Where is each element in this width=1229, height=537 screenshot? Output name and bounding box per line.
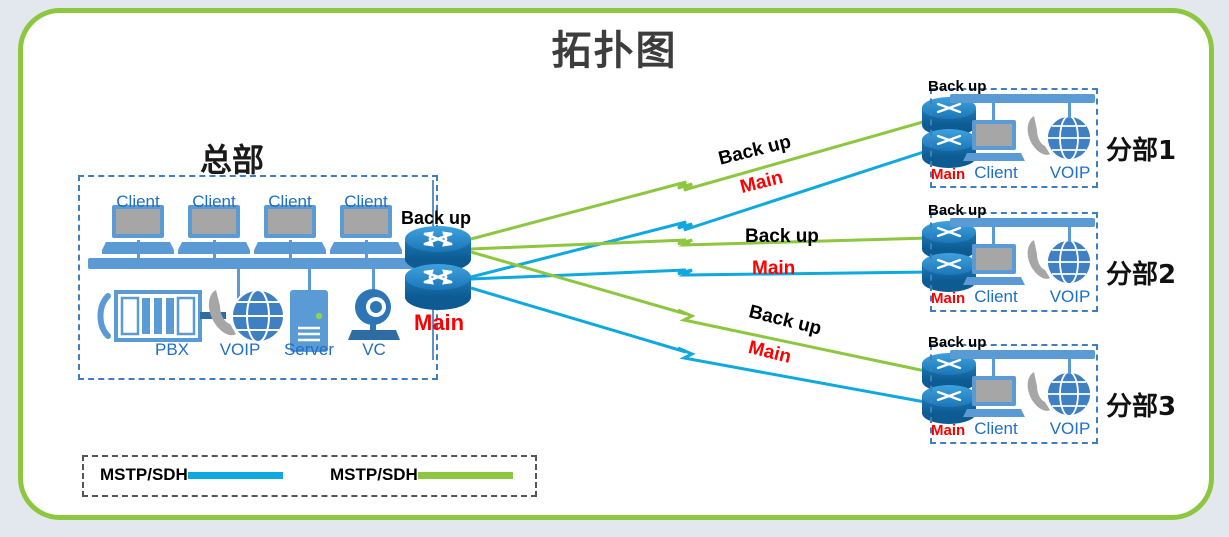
legend-item-blue: MSTP/SDH (100, 465, 283, 485)
branch3-router-main-tag: Main (931, 422, 965, 439)
hq-client-label: Client (337, 192, 395, 211)
page-title: 拓扑图 (0, 18, 1229, 76)
client-drop-line (137, 240, 140, 260)
device-drop-line (372, 266, 375, 290)
device-drop-line (237, 266, 240, 300)
legend-label: MSTP/SDH (100, 465, 188, 485)
branch2-router-backup-tag: Back up (928, 202, 986, 219)
hq-router-main-tag: Main (414, 310, 464, 336)
hq-router-backup-tag: Back up (401, 208, 471, 229)
branch1-drop-line (992, 100, 995, 122)
legend-item-green: MSTP/SDH (330, 465, 513, 485)
branch2-device-label-voip: VOIP (1041, 287, 1099, 306)
hq-device-label-vc: VC (345, 340, 403, 359)
hq-device-label-server: Server (280, 340, 338, 359)
client-drop-line (365, 240, 368, 260)
branch1-device-label-voip: VOIP (1041, 163, 1099, 182)
branch2-device-label-client: Client (967, 287, 1025, 306)
client-drop-line (289, 240, 292, 260)
legend-line-blue (188, 472, 283, 479)
hq-client-label: Client (261, 192, 319, 211)
branch2-title: 分部2 (1106, 254, 1176, 291)
branch1-bus (950, 94, 1095, 103)
branch3-router-backup-tag: Back up (928, 334, 986, 351)
branch3-drop-line (992, 356, 995, 378)
link-label-main-branch2: Main (752, 258, 795, 280)
branch1-title: 分部1 (1106, 130, 1176, 167)
branch2-drop-line (1068, 224, 1071, 242)
branch1-router-main-tag: Main (931, 166, 965, 183)
branch3-device-label-voip: VOIP (1041, 419, 1099, 438)
client-drop-line (213, 240, 216, 260)
link-label-backup-branch2: Back up (745, 226, 819, 248)
device-drop-line (308, 266, 311, 290)
branch3-drop-line (1068, 356, 1071, 374)
legend-label: MSTP/SDH (330, 465, 418, 485)
hq-client-label: Client (185, 192, 243, 211)
hq-device-label-pbx: PBX (143, 340, 201, 359)
branch2-drop-line (992, 224, 995, 246)
branch1-drop-line (1068, 100, 1071, 118)
legend-line-green (418, 472, 513, 479)
branch3-title: 分部3 (1106, 386, 1176, 423)
branch1-device-label-client: Client (967, 163, 1025, 182)
branch2-bus (950, 218, 1095, 227)
branch3-device-label-client: Client (967, 419, 1025, 438)
branch2-router-main-tag: Main (931, 290, 965, 307)
hq-client-label: Client (109, 192, 167, 211)
branch1-router-backup-tag: Back up (928, 78, 986, 95)
hq-device-label-voip: VOIP (211, 340, 269, 359)
branch3-bus (950, 350, 1095, 359)
topology-diagram: 拓扑图 总部 (0, 0, 1229, 537)
